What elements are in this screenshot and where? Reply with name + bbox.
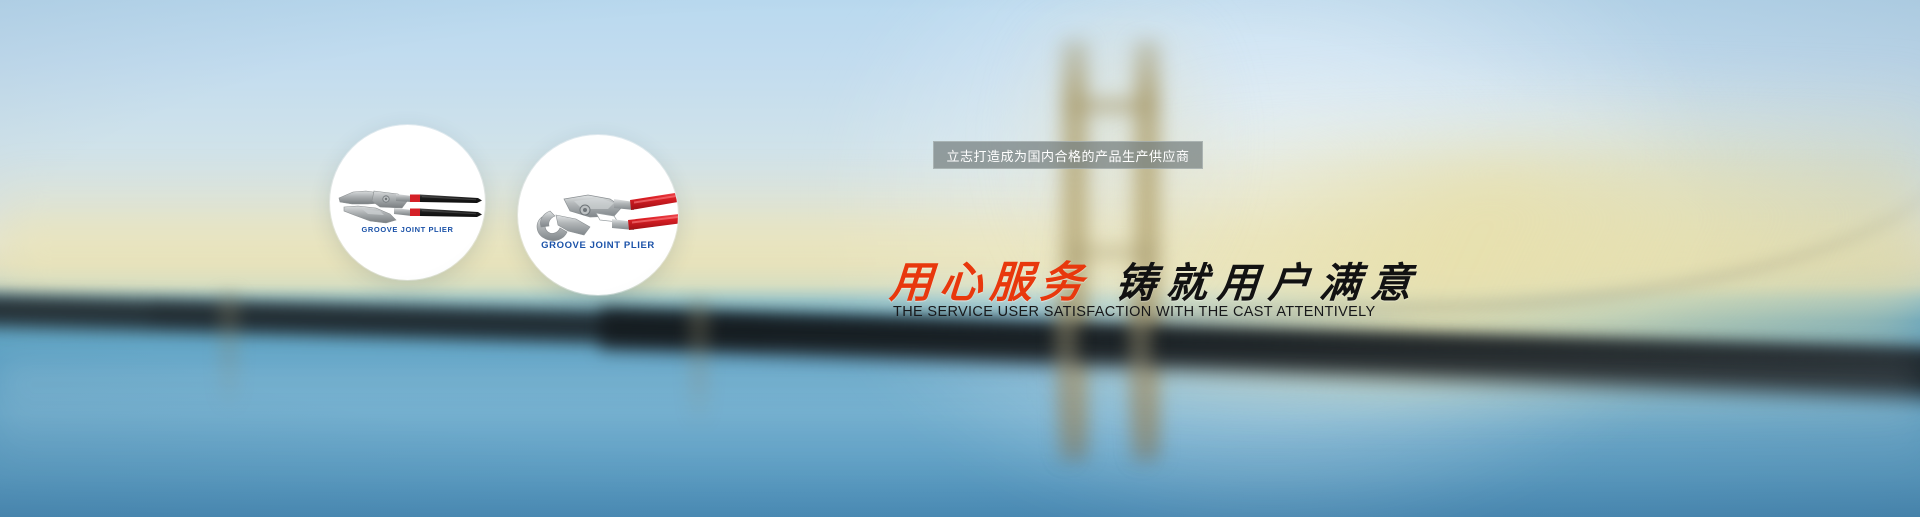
product-label: GROOVE JOINT PLIER bbox=[518, 240, 678, 251]
headline-red-text: 用心服务 bbox=[888, 248, 1092, 310]
product-circle-2[interactable]: GROOVE JOINT PLIER bbox=[518, 135, 678, 295]
strapline-bar: 立志打造成为国内合格的产品生产供应商 bbox=[933, 141, 1203, 169]
headline: 用心服务 铸就用户满意 bbox=[890, 248, 1422, 310]
headline-black-text: 铸就用户满意 bbox=[1113, 249, 1424, 309]
product-circle-1[interactable]: GROOVE JOINT PLIER bbox=[330, 125, 485, 280]
promotional-banner: GROOVE JOINT PLIER bbox=[0, 0, 1920, 517]
subheadline-text: THE SERVICE USER SATISFACTION WITH THE C… bbox=[893, 304, 1376, 320]
product-label: GROOVE JOINT PLIER bbox=[330, 225, 485, 234]
strapline-text: 立志打造成为国内合格的产品生产供应商 bbox=[946, 146, 1189, 165]
